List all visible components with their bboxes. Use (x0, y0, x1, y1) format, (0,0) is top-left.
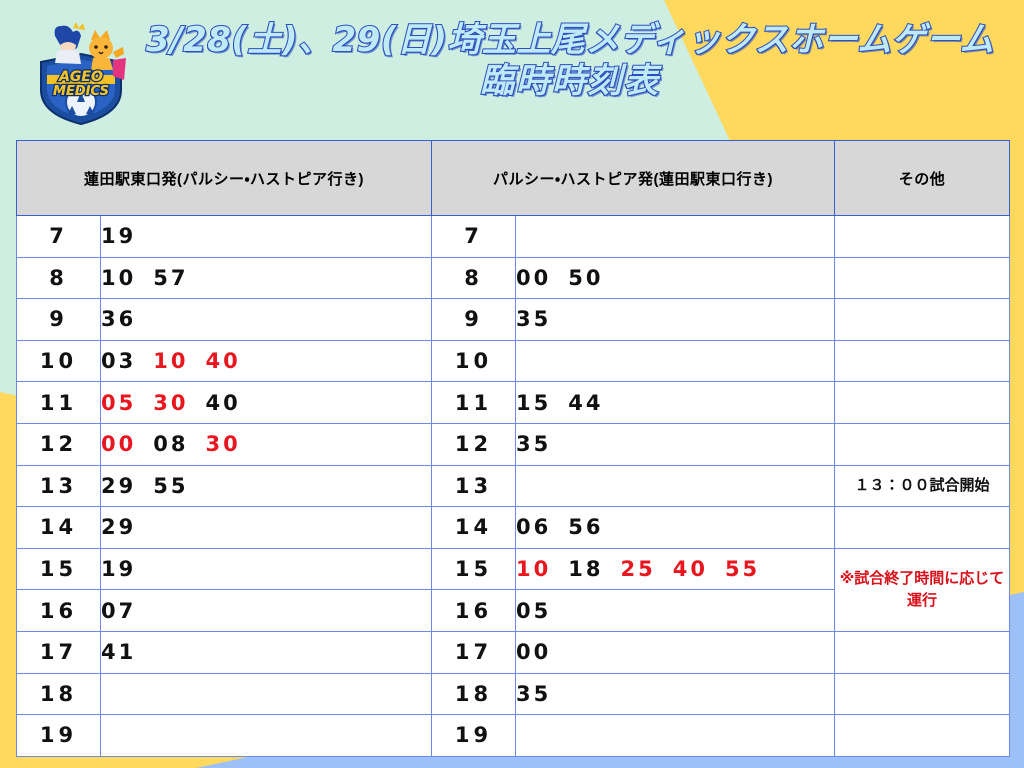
table-row: 7197 (17, 216, 1010, 258)
hour-cell-depart-palsy: 16 (432, 590, 516, 632)
minute-value: 06 (516, 515, 551, 539)
hour-cell-depart-hasuda: 17 (17, 631, 101, 673)
note-cell (835, 216, 1010, 258)
note-cell (835, 715, 1010, 757)
column-header-other: その他 (835, 141, 1010, 216)
minutes-cell-depart-palsy: 00 (516, 631, 835, 673)
minute-value: 56 (568, 515, 603, 539)
minutes-cell-depart-hasuda (101, 673, 432, 715)
hour-cell-depart-palsy: 15 (432, 548, 516, 590)
timetable-head: 蓮田駅東口発(パルシー・ハストピア行き) パルシー・ハストピア発(蓮田駅東口行き… (17, 141, 1010, 216)
hour-cell-depart-hasuda: 19 (17, 715, 101, 757)
hour-cell-depart-palsy: 9 (432, 299, 516, 341)
note-cell (835, 257, 1010, 299)
minutes-cell-depart-palsy: 05 (516, 590, 835, 632)
timetable-body: 7197810578005093693510031040101105304011… (17, 216, 1010, 757)
minutes-cell-depart-palsy (516, 340, 835, 382)
note-cell (835, 507, 1010, 549)
minutes-cell-depart-hasuda: 29 (101, 507, 432, 549)
minute-value: 55 (153, 474, 188, 498)
minutes-cell-depart-hasuda: 07 (101, 590, 432, 632)
minutes-cell-depart-hasuda: 19 (101, 548, 432, 590)
minute-value: 00 (516, 640, 551, 664)
hour-cell-depart-hasuda: 13 (17, 465, 101, 507)
minutes-cell-depart-hasuda: 053040 (101, 382, 432, 424)
minute-value-highlight: 40 (673, 557, 708, 581)
minutes-cell-depart-hasuda: 2955 (101, 465, 432, 507)
hour-cell-depart-hasuda: 15 (17, 548, 101, 590)
minutes-cell-depart-hasuda (101, 715, 432, 757)
minutes-cell-depart-palsy: 0050 (516, 257, 835, 299)
minute-value: 36 (101, 307, 136, 331)
note-cell (835, 340, 1010, 382)
minute-value: 35 (516, 432, 551, 456)
minutes-cell-depart-hasuda: 36 (101, 299, 432, 341)
minute-value-highlight: 00 (101, 432, 136, 456)
minutes-cell-depart-palsy: 0656 (516, 507, 835, 549)
column-header-hasuda-depart: 蓮田駅東口発(パルシー・ハストピア行き) (17, 141, 432, 216)
table-row: 1003104010 (17, 340, 1010, 382)
hour-cell-depart-palsy: 14 (432, 507, 516, 549)
timetable: 蓮田駅東口発(パルシー・ハストピア行き) パルシー・ハストピア発(蓮田駅東口行き… (16, 140, 1010, 757)
hour-cell-depart-palsy: 11 (432, 382, 516, 424)
minute-value-highlight: 55 (725, 557, 760, 581)
minute-value-highlight: 05 (101, 391, 136, 415)
minutes-cell-depart-palsy: 1018254055 (516, 548, 835, 590)
svg-text:AGEO: AGEO (58, 69, 103, 85)
table-row: 1429140656 (17, 507, 1010, 549)
minutes-cell-depart-palsy: 1544 (516, 382, 835, 424)
ageo-medics-logo: AGEO AGEO MEDICS MEDICS (25, 18, 137, 126)
minutes-cell-depart-palsy: 35 (516, 423, 835, 465)
minute-value: 57 (153, 266, 188, 290)
note-cell (835, 673, 1010, 715)
hour-cell-depart-hasuda: 11 (17, 382, 101, 424)
hour-cell-depart-hasuda: 8 (17, 257, 101, 299)
title-line-2: 臨時時刻表 (140, 61, 1000, 102)
note-cell (835, 299, 1010, 341)
table-row: 17411700 (17, 631, 1010, 673)
minutes-cell-depart-palsy (516, 465, 835, 507)
note-cell (835, 382, 1010, 424)
hour-cell-depart-hasuda: 7 (17, 216, 101, 258)
minute-value: 10 (101, 266, 136, 290)
note-cell (835, 631, 1010, 673)
minute-value-highlight: 30 (153, 391, 188, 415)
minute-value: 19 (101, 224, 136, 248)
minute-value-highlight: 40 (205, 349, 240, 373)
table-row: 120008301235 (17, 423, 1010, 465)
minutes-cell-depart-hasuda: 1057 (101, 257, 432, 299)
page-header: AGEO AGEO MEDICS MEDICS 3/28(土)、29(日)埼玉上… (0, 0, 1024, 132)
minutes-cell-depart-hasuda: 19 (101, 216, 432, 258)
minute-value: 44 (568, 391, 603, 415)
minute-value: 05 (516, 599, 551, 623)
table-row: 1519151018254055※試合終了時間に応じて運行 (17, 548, 1010, 590)
minute-value: 00 (516, 266, 551, 290)
hour-cell-depart-palsy: 8 (432, 257, 516, 299)
title-line-1: 3/28(土)、29(日)埼玉上尾メディックスホームゲーム (140, 20, 1000, 61)
minute-value-highlight: 25 (620, 557, 655, 581)
svg-text:MEDICS: MEDICS (53, 84, 109, 99)
minutes-cell-depart-palsy: 35 (516, 299, 835, 341)
minutes-cell-depart-hasuda: 031040 (101, 340, 432, 382)
hour-cell-depart-palsy: 17 (432, 631, 516, 673)
page-title: 3/28(土)、29(日)埼玉上尾メディックスホームゲーム 臨時時刻表 (140, 20, 1000, 103)
minute-value-highlight: 10 (153, 349, 188, 373)
hour-cell-depart-palsy: 10 (432, 340, 516, 382)
table-row: 8105780050 (17, 257, 1010, 299)
minute-value: 29 (101, 474, 136, 498)
hour-cell-depart-palsy: 12 (432, 423, 516, 465)
hour-cell-depart-palsy: 18 (432, 673, 516, 715)
hour-cell-depart-palsy: 7 (432, 216, 516, 258)
table-row: 13295513１３：００試合開始 (17, 465, 1010, 507)
hour-cell-depart-palsy: 19 (432, 715, 516, 757)
minute-value: 35 (516, 307, 551, 331)
minutes-cell-depart-palsy: 35 (516, 673, 835, 715)
table-row: 11053040111544 (17, 382, 1010, 424)
minute-value: 41 (101, 640, 136, 664)
minute-value: 40 (205, 391, 240, 415)
hour-cell-depart-hasuda: 12 (17, 423, 101, 465)
table-row: 936935 (17, 299, 1010, 341)
note-cell (835, 423, 1010, 465)
column-header-palsy-depart: パルシー・ハストピア発(蓮田駅東口行き) (432, 141, 835, 216)
hour-cell-depart-hasuda: 9 (17, 299, 101, 341)
minute-value-highlight: 10 (516, 557, 551, 581)
minutes-cell-depart-palsy (516, 715, 835, 757)
minute-value: 18 (568, 557, 603, 581)
hour-cell-depart-hasuda: 18 (17, 673, 101, 715)
note-cell: １３：００試合開始 (835, 465, 1010, 507)
minute-value: 03 (101, 349, 136, 373)
minute-value: 08 (153, 432, 188, 456)
hour-cell-depart-hasuda: 10 (17, 340, 101, 382)
timetable-container: 蓮田駅東口発(パルシー・ハストピア行き) パルシー・ハストピア発(蓮田駅東口行き… (16, 140, 1009, 757)
minutes-cell-depart-hasuda: 41 (101, 631, 432, 673)
minute-value: 19 (101, 557, 136, 581)
hour-cell-depart-hasuda: 14 (17, 507, 101, 549)
minute-value-highlight: 30 (205, 432, 240, 456)
minutes-cell-depart-palsy (516, 216, 835, 258)
table-row: 1919 (17, 715, 1010, 757)
minutes-cell-depart-hasuda: 000830 (101, 423, 432, 465)
hour-cell-depart-hasuda: 16 (17, 590, 101, 632)
table-row: 181835 (17, 673, 1010, 715)
note-cell-service-notice: ※試合終了時間に応じて運行 (835, 548, 1010, 631)
timetable-header-row: 蓮田駅東口発(パルシー・ハストピア行き) パルシー・ハストピア発(蓮田駅東口行き… (17, 141, 1010, 216)
minute-value: 07 (101, 599, 136, 623)
minute-value: 35 (516, 682, 551, 706)
minute-value: 50 (568, 266, 603, 290)
hour-cell-depart-palsy: 13 (432, 465, 516, 507)
logo-wordmark: AGEO AGEO MEDICS MEDICS (53, 69, 109, 99)
minute-value: 15 (516, 391, 551, 415)
minute-value: 29 (101, 515, 136, 539)
